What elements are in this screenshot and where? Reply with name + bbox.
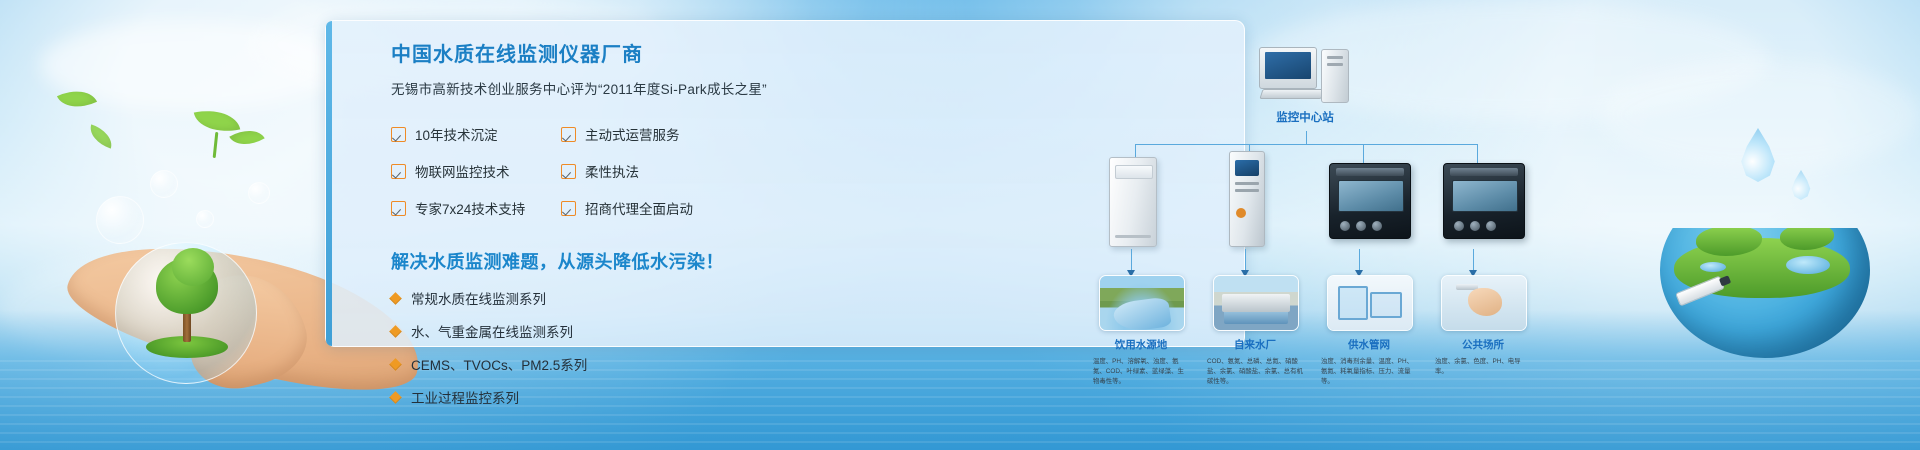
scene-card[interactable]: 自来水厂 COD、氨氮、总磷、总氮、硝酸盐、余氯、硝酸盐、余氯、总有机碳性等。 [1213, 275, 1297, 387]
feature-item[interactable]: 物联网监控技术 [391, 161, 561, 181]
controller-screen [1338, 180, 1404, 212]
feature-item[interactable]: 柔性执法 [561, 161, 731, 181]
checkbox-checked-icon [391, 201, 406, 216]
list-item[interactable]: CEMS、TVOCs、PM2.5系列 [391, 354, 751, 374]
cabinet-body [1109, 157, 1157, 247]
diamond-bullet-icon [389, 292, 402, 305]
controller-top-strip [1336, 168, 1404, 176]
scene-card[interactable]: 公共场所 浊度、余氯、色度、PH、电导率。 [1441, 275, 1525, 377]
list-item[interactable]: 工业过程监控系列 [391, 387, 751, 407]
monitor-screen [1265, 52, 1311, 79]
feature-checklist: 10年技术沉淀 主动式运营服务 物联网监控技术 柔性执法 专家7x24技术支持 … [391, 124, 751, 218]
page-title: 中国水质在线监测仪器厂商 [391, 43, 751, 67]
device-controller-unit-1[interactable] [1319, 151, 1419, 251]
checkbox-checked-icon [561, 201, 576, 216]
cabinet-indicator [1236, 208, 1246, 218]
scene-description: 温度、PH、溶解氧、浊度、氨氮、COD、叶绿素、蓝绿藻、生物毒性等。 [1093, 357, 1189, 387]
diamond-bullet-icon [389, 391, 402, 404]
feature-label: 10年技术沉淀 [415, 124, 498, 144]
bubble-decor [196, 210, 214, 228]
scene-caption: 自来水厂 [1213, 337, 1297, 352]
pipe-network-photo [1327, 275, 1413, 331]
diamond-bullet-icon [389, 325, 402, 338]
panel-accent-bar [326, 21, 332, 346]
hands-holding-tree-globe [60, 236, 310, 386]
controller-buttons [1454, 221, 1496, 231]
cabinet-slot [1235, 182, 1259, 185]
scene-caption: 公共场所 [1441, 337, 1525, 352]
scene-description: COD、氨氮、总磷、总氮、硝酸盐、余氯、硝酸盐、余氯、总有机碳性等。 [1207, 357, 1303, 387]
controller-button[interactable] [1372, 221, 1382, 231]
product-line-label: 水、气重金属在线监测系列 [411, 321, 573, 341]
product-line-label: CEMS、TVOCs、PM2.5系列 [411, 354, 587, 374]
tower-icon [1321, 49, 1349, 103]
feature-label: 招商代理全面启动 [585, 198, 693, 218]
scene-card[interactable]: 饮用水源地 温度、PH、溶解氧、浊度、氨氮、COD、叶绿素、蓝绿藻、生物毒性等。 [1099, 275, 1183, 387]
controller-button[interactable] [1486, 221, 1496, 231]
scene-description: 浊度、余氯、色度、PH、电导率。 [1435, 357, 1531, 377]
section-heading: 解决水质监测难题，从源头降低水污染！ [391, 248, 751, 274]
device-slim-cabinet-analyzer[interactable] [1205, 151, 1305, 251]
tree-crown-top [172, 248, 214, 286]
checkbox-checked-icon [561, 164, 576, 179]
scene-caption: 饮用水源地 [1099, 337, 1183, 352]
arrow-down-icon [1473, 249, 1474, 271]
controller-screen [1452, 180, 1518, 212]
feature-label: 柔性执法 [585, 161, 639, 181]
device-controller-unit-2[interactable] [1433, 151, 1533, 251]
left-column: 中国水质在线监测仪器厂商 无锡市高新技术创业服务中心评为“2011年度Si-Pa… [391, 43, 751, 407]
cabinet-slot [1235, 189, 1259, 192]
controller-buttons [1340, 221, 1382, 231]
page-subtitle: 无锡市高新技术创业服务中心评为“2011年度Si-Park成长之星” [391, 78, 751, 98]
cabinet-slim-body [1229, 151, 1265, 247]
river-photo [1099, 275, 1185, 331]
monitor-icon [1259, 47, 1317, 89]
controller-body [1329, 163, 1411, 239]
tap-water-photo [1441, 275, 1527, 331]
diamond-bullet-icon [389, 358, 402, 371]
scene-description: 浊度、消毒剂余量、温度、PH、氨氮、耗氧量指标、压力、流量等。 [1321, 357, 1417, 387]
earth-lake [1700, 262, 1726, 272]
system-topology-diagram: 监控中心站 [1081, 43, 1531, 363]
checkbox-checked-icon [391, 127, 406, 142]
product-line-label: 工业过程监控系列 [411, 387, 519, 407]
content-panel: 中国水质在线监测仪器厂商 无锡市高新技术创业服务中心评为“2011年度Si-Pa… [325, 20, 1245, 347]
feature-label: 专家7x24技术支持 [415, 198, 525, 218]
product-line-label: 常规水质在线监测系列 [411, 288, 546, 308]
feature-label: 物联网监控技术 [415, 161, 510, 181]
arrow-down-icon [1131, 249, 1132, 271]
bubble-decor [150, 170, 178, 198]
connector-vertical [1306, 131, 1307, 145]
scene-card[interactable]: 供水管网 浊度、消毒剂余量、温度、PH、氨氮、耗氧量指标、压力、流量等。 [1327, 275, 1411, 387]
checkbox-checked-icon [561, 127, 576, 142]
center-station-label: 监控中心站 [1229, 109, 1381, 125]
list-item[interactable]: 水、气重金属在线监测系列 [391, 321, 751, 341]
device-row [1091, 151, 1521, 251]
product-line-list: 常规水质在线监测系列 水、气重金属在线监测系列 CEMS、TVOCs、PM2.5… [391, 288, 751, 407]
list-item[interactable]: 常规水质在线监测系列 [391, 288, 751, 308]
arrow-down-icon [1359, 249, 1360, 271]
connector-horizontal [1135, 144, 1477, 145]
desktop-computer-icon [1259, 47, 1351, 103]
controller-button[interactable] [1470, 221, 1480, 231]
controller-body [1443, 163, 1525, 239]
water-plant-photo [1213, 275, 1299, 331]
feature-item[interactable]: 10年技术沉淀 [391, 124, 561, 144]
feature-label: 主动式运营服务 [585, 124, 680, 144]
feature-item[interactable]: 主动式运营服务 [561, 124, 731, 144]
cabinet-screen [1235, 160, 1259, 176]
keyboard-icon [1259, 89, 1324, 99]
controller-button[interactable] [1454, 221, 1464, 231]
scene-caption: 供水管网 [1327, 337, 1411, 352]
earth-lake [1786, 256, 1830, 274]
controller-button[interactable] [1356, 221, 1366, 231]
arrow-down-icon [1245, 249, 1246, 271]
device-water-cabinet-analyzer[interactable] [1091, 151, 1191, 251]
feature-item[interactable]: 招商代理全面启动 [561, 198, 731, 218]
controller-button[interactable] [1340, 221, 1350, 231]
checkbox-checked-icon [391, 164, 406, 179]
controller-top-strip [1450, 168, 1518, 176]
bubble-decor [248, 182, 270, 204]
feature-item[interactable]: 专家7x24技术支持 [391, 198, 561, 218]
